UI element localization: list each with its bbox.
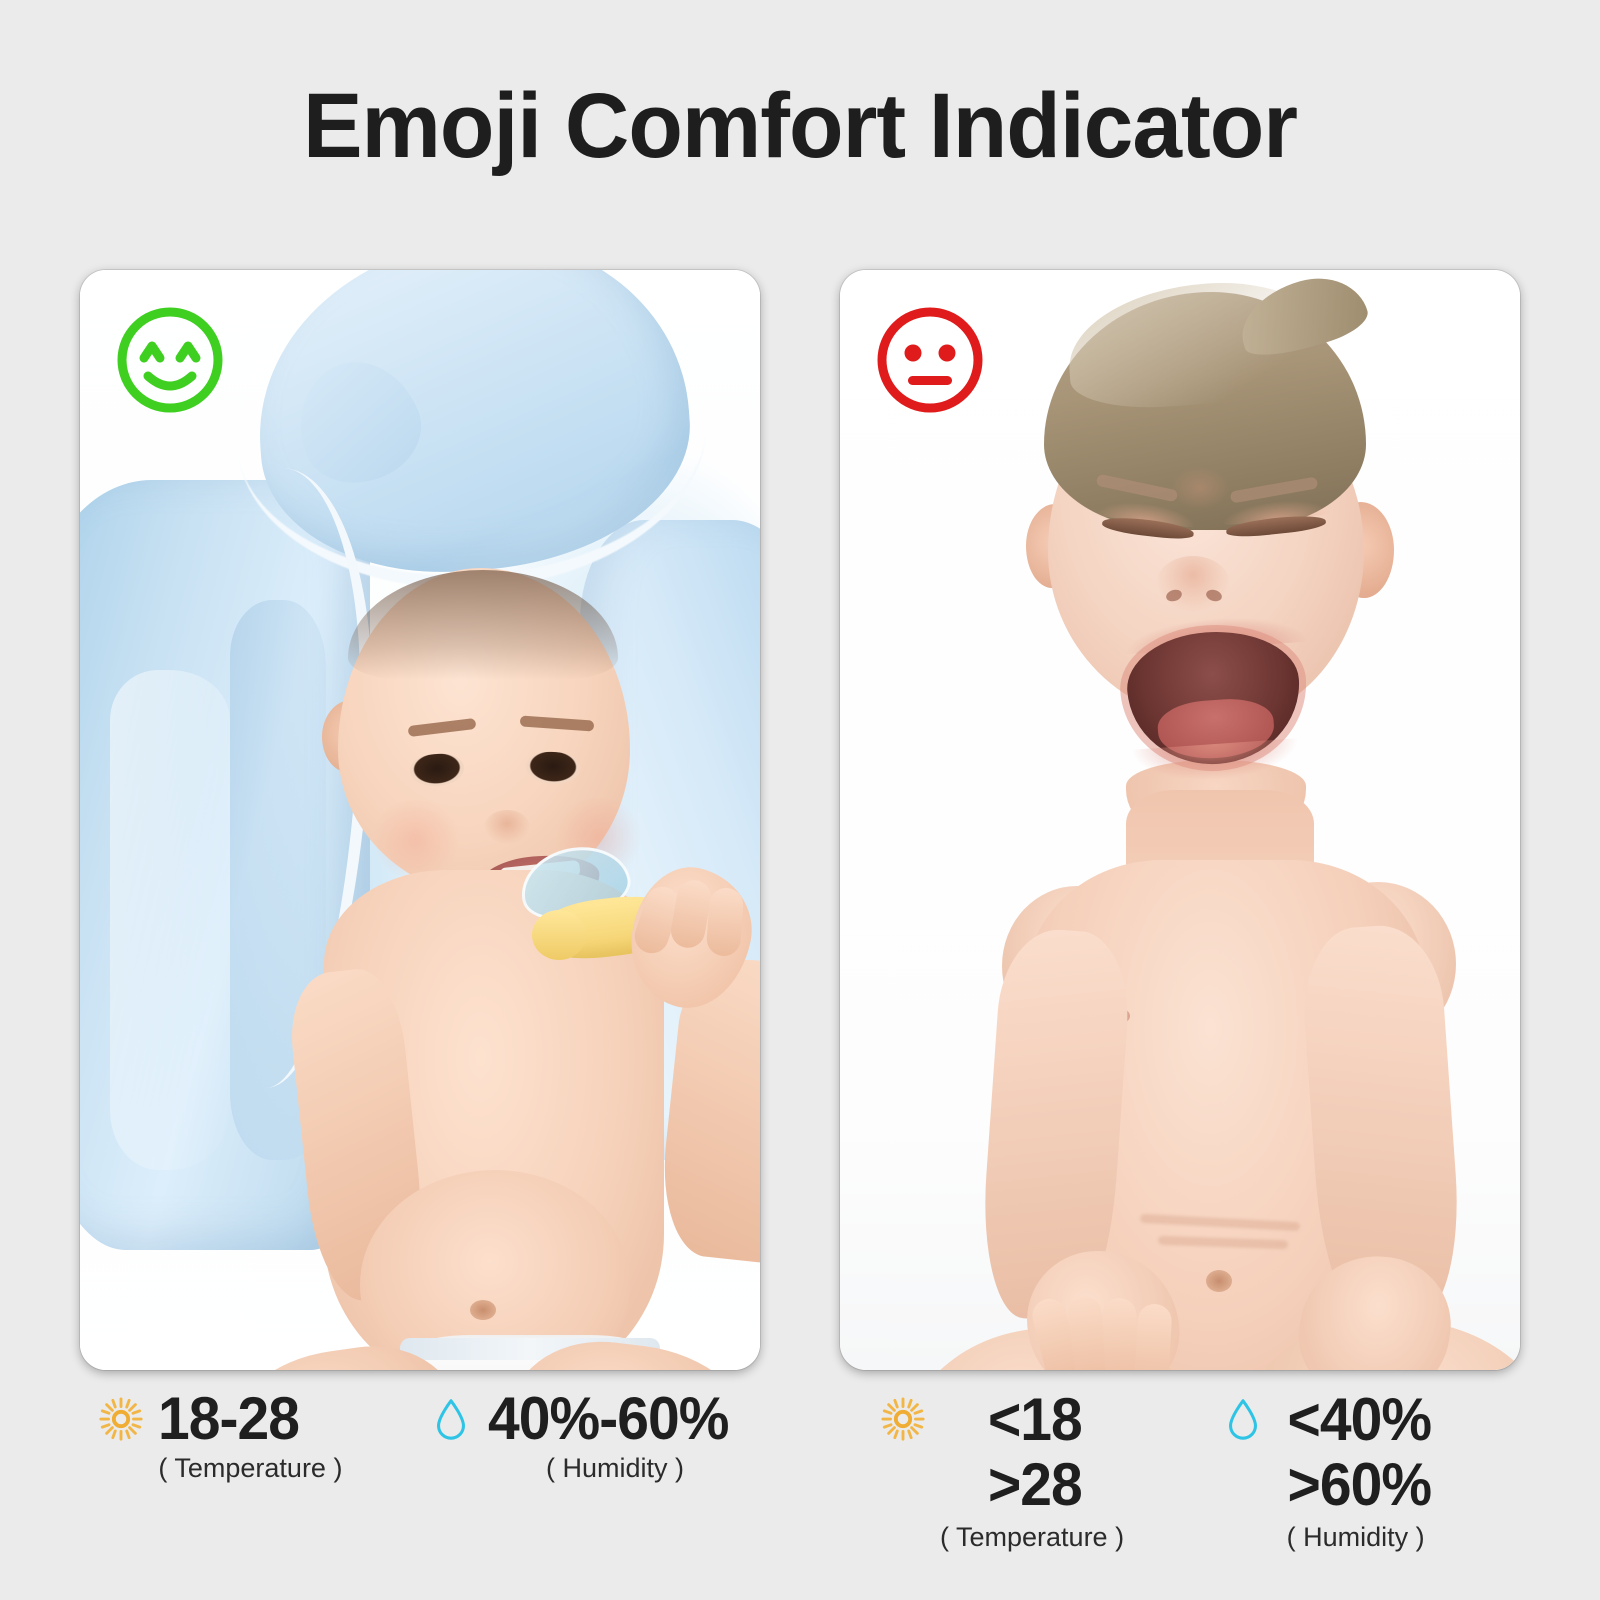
- water-drop-icon: [1220, 1396, 1266, 1442]
- temperature-value-low: <18: [988, 1388, 1082, 1453]
- comfort-card-uncomfortable[interactable]: [840, 270, 1520, 1370]
- water-drop-icon: [428, 1396, 474, 1442]
- comfort-cards-row: [0, 270, 1600, 1370]
- stat-temperature-comfortable: 18-28 ( Temperature ): [98, 1388, 342, 1484]
- sun-icon: [98, 1396, 144, 1442]
- humidity-caption: ( Humidity ): [1287, 1522, 1425, 1553]
- stats-comfortable: 18-28 ( Temperature ) 40%-60% ( Humidity…: [80, 1388, 760, 1484]
- temperature-value-high: >28: [988, 1453, 1082, 1518]
- sun-icon: [880, 1396, 926, 1442]
- humidity-caption: ( Humidity ): [488, 1453, 741, 1484]
- humidity-value-high: >60%: [1288, 1453, 1432, 1518]
- happy-face-icon: [110, 300, 230, 420]
- temperature-caption: ( Temperature ): [940, 1522, 1124, 1553]
- emoji-comfort-indicator-page: Emoji Comfort Indicator: [0, 0, 1600, 1600]
- baby-photo-uncomfortable: [840, 270, 1520, 1370]
- neutral-face-icon: [870, 300, 990, 420]
- comfort-card-comfortable[interactable]: [80, 270, 760, 1370]
- temperature-caption: ( Temperature ): [158, 1453, 342, 1484]
- page-title: Emoji Comfort Indicator: [24, 78, 1576, 175]
- stat-humidity-comfortable: 40%-60% ( Humidity ): [428, 1388, 741, 1484]
- baby-photo-comfortable: [80, 270, 760, 1370]
- stat-temperature-uncomfortable: <18 >28 ( Temperature ): [880, 1388, 1124, 1553]
- humidity-value-low: <40%: [1288, 1388, 1432, 1453]
- temperature-value: 18-28: [158, 1388, 333, 1449]
- stats-uncomfortable: <18 >28 ( Temperature ) <40% >60%: [880, 1388, 1500, 1553]
- humidity-value: 40%-60%: [488, 1388, 728, 1449]
- comfort-stats: 18-28 ( Temperature ) 40%-60% ( Humidity…: [0, 1388, 1600, 1578]
- stat-humidity-uncomfortable: <40% >60% ( Humidity ): [1220, 1388, 1431, 1553]
